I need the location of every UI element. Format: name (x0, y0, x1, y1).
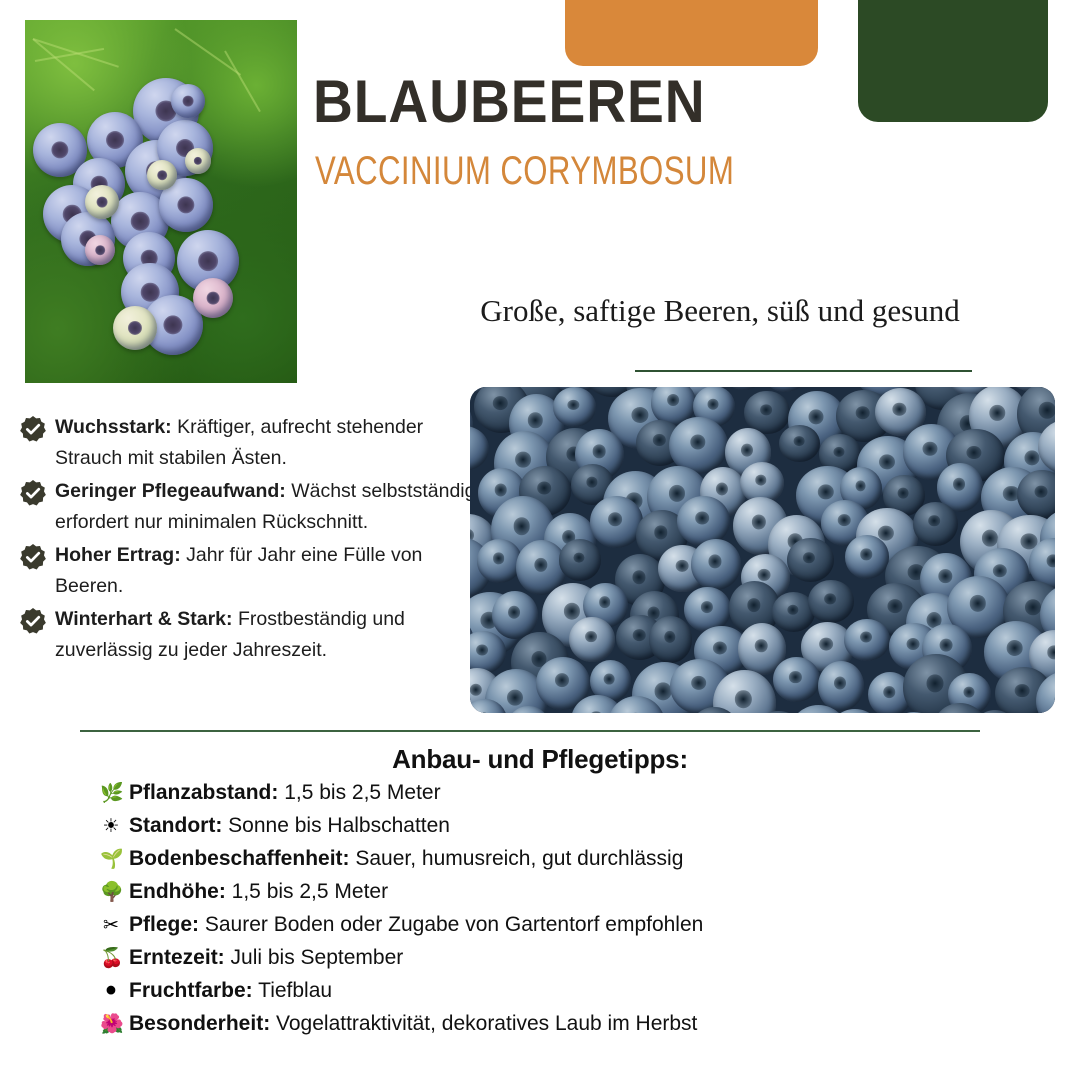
tip-value: Tiefblau (253, 979, 332, 1002)
check-badge-icon (20, 480, 46, 506)
berry (470, 631, 506, 674)
scissors-icon: ✂ (100, 916, 122, 935)
tip-value: Juli bis September (225, 946, 404, 969)
berry (569, 617, 615, 662)
berry (590, 496, 643, 548)
feature-item: Winterhart & Stark: Frostbeständig und z… (20, 604, 490, 666)
blueberry-bush-photo (25, 20, 297, 383)
berry (845, 535, 889, 578)
leaf-vein (224, 51, 261, 113)
berry (913, 502, 958, 546)
blueberry-harvest-photo (470, 387, 1055, 713)
tip-item: 🌳Endhöhe: 1,5 bis 2,5 Meter (100, 880, 1000, 913)
berry (677, 496, 730, 546)
berry (470, 426, 489, 472)
leaf-vein (32, 38, 95, 91)
berry-pile (470, 387, 1055, 713)
tip-text: Bodenbeschaffenheit: Sauer, humusreich, … (129, 847, 683, 871)
feature-label: Hoher Ertrag: (55, 544, 181, 566)
tip-value: Sauer, humusreich, gut durchlässig (350, 847, 684, 870)
tip-label: Besonderheit: (129, 1012, 270, 1035)
tip-label: Endhöhe: (129, 880, 226, 903)
feature-item: Hoher Ertrag: Jahr für Jahr eine Fülle v… (20, 540, 490, 602)
feature-item: Wuchsstark: Kräftiger, aufrecht stehende… (20, 412, 490, 474)
tagline-underline (635, 370, 972, 372)
feature-text: Winterhart & Stark: Frostbeständig und z… (55, 604, 490, 666)
herb-icon: 🌿 (100, 784, 122, 803)
tip-item: 🌱Bodenbeschaffenheit: Sauer, humusreich,… (100, 847, 1000, 880)
tip-item: 🍒Erntezeit: Juli bis September (100, 946, 1000, 979)
tip-text: Standort: Sonne bis Halbschatten (129, 814, 450, 838)
tip-item: 🌺Besonderheit: Vogelattraktivität, dekor… (100, 1012, 1000, 1045)
tip-text: Pflanzabstand: 1,5 bis 2,5 Meter (129, 781, 441, 805)
feature-text: Hoher Ertrag: Jahr für Jahr eine Fülle v… (55, 540, 490, 602)
feature-label: Winterhart & Stark: (55, 608, 233, 630)
section-divider (80, 730, 980, 732)
tip-item: ⚫Fruchtfarbe: Tiefblau (100, 979, 1000, 1012)
tip-label: Pflanzabstand: (129, 781, 278, 804)
berry (559, 539, 602, 580)
berry (808, 580, 853, 623)
tip-value: Vogelattraktivität, dekoratives Laub im … (270, 1012, 697, 1035)
tip-text: Erntezeit: Juli bis September (129, 946, 403, 970)
decor-block-orange (565, 0, 818, 66)
tip-value: Sonne bis Halbschatten (222, 814, 450, 837)
cherries-icon: 🍒 (100, 949, 122, 968)
leaf-vein (174, 28, 241, 76)
berry (171, 84, 205, 118)
tree-icon: 🌳 (100, 883, 122, 902)
berry (193, 278, 233, 318)
decor-block-green (858, 0, 1048, 122)
page-title: BLAUBEEREN (313, 72, 706, 132)
berry (844, 619, 890, 661)
berry (779, 425, 820, 463)
tagline: Große, saftige Beeren, süß und gesund (420, 293, 1020, 329)
tip-text: Pflege: Saurer Boden oder Zugabe von Gar… (129, 913, 703, 937)
berry (787, 538, 834, 582)
berry (477, 539, 522, 582)
tip-label: Bodenbeschaffenheit: (129, 847, 350, 870)
berry (85, 185, 119, 219)
check-badge-icon (20, 544, 46, 570)
berry (649, 616, 693, 663)
tip-item: 🌿Pflanzabstand: 1,5 bis 2,5 Meter (100, 781, 1000, 814)
tip-value: 1,5 bis 2,5 Meter (226, 880, 388, 903)
tip-item: ☀Standort: Sonne bis Halbschatten (100, 814, 1000, 847)
berry (691, 539, 741, 590)
berry (147, 160, 177, 190)
berry (553, 387, 596, 427)
feature-item: Geringer Pflegeaufwand: Wächst selbststä… (20, 476, 490, 538)
tip-label: Fruchtfarbe: (129, 979, 253, 1002)
black-circle-icon: ⚫ (100, 982, 122, 1001)
tip-text: Fruchtfarbe: Tiefblau (129, 979, 332, 1003)
berry (492, 591, 538, 639)
sun-icon: ☀ (100, 817, 122, 836)
berry (818, 661, 864, 711)
feature-label: Wuchsstark: (55, 416, 172, 438)
seedling-icon: 🌱 (100, 850, 122, 869)
tip-value: Saurer Boden oder Zugabe von Gartentorf … (199, 913, 703, 936)
berry (85, 235, 115, 265)
berry (113, 306, 157, 350)
feature-text: Geringer Pflegeaufwand: Wächst selbststä… (55, 476, 490, 538)
tips-list: 🌿Pflanzabstand: 1,5 bis 2,5 Meter☀Stando… (100, 781, 1000, 1045)
hibiscus-icon: 🌺 (100, 1015, 122, 1034)
berry (723, 387, 765, 390)
tip-label: Standort: (129, 814, 222, 837)
check-badge-icon (20, 416, 46, 442)
feature-label: Geringer Pflegeaufwand: (55, 480, 286, 502)
feature-text: Wuchsstark: Kräftiger, aufrecht stehende… (55, 412, 490, 474)
berry (773, 657, 820, 702)
berry (185, 148, 211, 174)
tip-text: Besonderheit: Vogelattraktivität, dekora… (129, 1012, 697, 1036)
feature-list: Wuchsstark: Kräftiger, aufrecht stehende… (20, 412, 490, 668)
tip-value: 1,5 bis 2,5 Meter (278, 781, 440, 804)
tip-item: ✂Pflege: Saurer Boden oder Zugabe von Ga… (100, 913, 1000, 946)
tip-text: Endhöhe: 1,5 bis 2,5 Meter (129, 880, 388, 904)
tip-label: Erntezeit: (129, 946, 225, 969)
check-badge-icon (20, 608, 46, 634)
botanical-name: VACCINIUM CORYMBOSUM (315, 150, 734, 192)
tip-label: Pflege: (129, 913, 199, 936)
tips-heading: Anbau- und Pflegetipps: (0, 744, 1080, 775)
